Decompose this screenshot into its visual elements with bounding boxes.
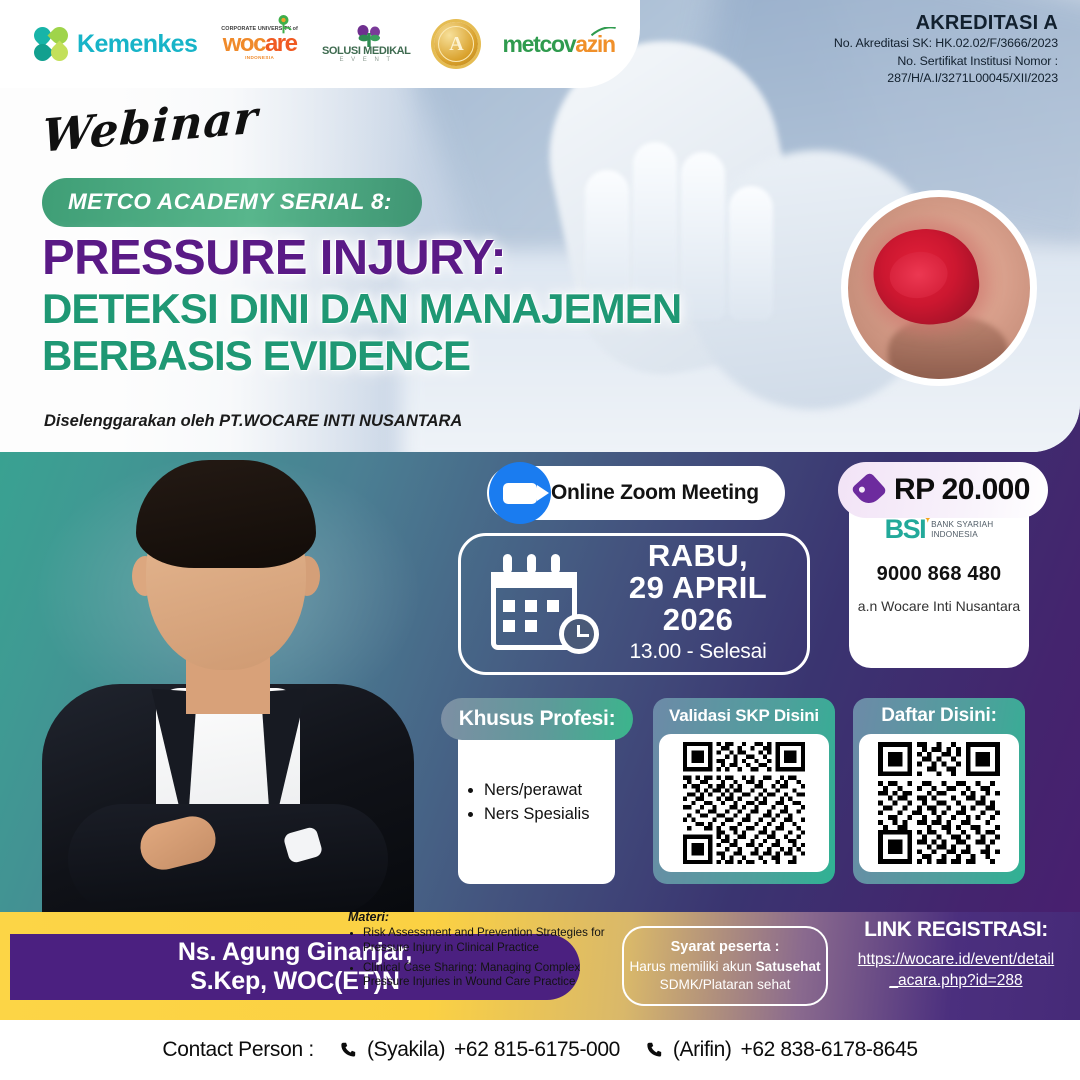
- bsi-logo: BSI✦ BANK SYARIAH INDONESIA: [849, 514, 1029, 545]
- accreditation-line1: No. Akreditasi SK: HK.02.02/F/3666/2023: [834, 35, 1058, 53]
- registration-url-line1: https://wocare.id/event/detail: [858, 951, 1054, 968]
- qr-daftar[interactable]: Daftar Disini:: [853, 698, 1025, 884]
- list-item: Ners Spesialis: [484, 803, 589, 827]
- profession-list: Ners/perawat Ners Spesialis: [484, 779, 589, 827]
- contact-footer: Contact Person : (Syakila) +62 815-6175-…: [0, 1020, 1080, 1080]
- metcovazin-swoosh-icon: [591, 27, 617, 37]
- phone-icon: [340, 1041, 358, 1059]
- video-camera-icon: [489, 462, 551, 524]
- schedule-text: RABU, 29 APRIL 2026 13.00 - Selesai: [601, 540, 807, 667]
- contact-syakila-name: (Syakila): [367, 1038, 445, 1062]
- contact-label: Contact Person :: [162, 1038, 314, 1062]
- logo-solusi-medikal: SOLUSI MEDIKAL E V E N T: [322, 25, 411, 64]
- schedule-card: RABU, 29 APRIL 2026 13.00 - Selesai: [458, 533, 810, 675]
- registration-title: LINK REGISTRASI:: [838, 918, 1074, 942]
- list-item: Ners/perawat: [484, 779, 589, 803]
- accreditation-info: AKREDITASI A No. Akreditasi SK: HK.02.02…: [834, 12, 1058, 88]
- title-line-2: DETEKSI DINI DAN MANAJEMEN: [42, 285, 681, 332]
- bsi-mark-text: BSI: [885, 514, 926, 544]
- wocare-wordmark: wocare: [223, 32, 297, 56]
- serial-badge: METCO ACADEMY SERIAL 8:: [42, 178, 422, 227]
- speaker-crossed-arms: [68, 804, 388, 914]
- accreditation-line2: No. Sertifikat Institusi Nomor :: [834, 53, 1058, 71]
- syarat-line1-b: Satusehat: [756, 959, 821, 974]
- schedule-day: RABU,: [601, 540, 795, 572]
- price-badge: RP 20.000: [838, 462, 1048, 518]
- contact-arifin-phone: +62 838-6178-8645: [741, 1038, 918, 1062]
- syarat-title: Syarat peserta :: [671, 939, 780, 955]
- list-item: Clinical Case Sharing: Managing Complex …: [363, 961, 616, 991]
- account-number: 9000 868 480: [849, 563, 1029, 586]
- metcovazin-part1: met: [502, 31, 539, 57]
- bsi-name-line1: BANK SYARIAH: [931, 520, 993, 530]
- registration-url[interactable]: https://wocare.id/event/detail _acara.ph…: [858, 951, 1054, 989]
- registration-url-line2: _acara.php?id=288: [889, 972, 1022, 989]
- wocare-word-part1: woc: [223, 30, 265, 57]
- serial-badge-label: METCO ACADEMY SERIAL 8:: [68, 189, 392, 214]
- solusi-subtitle: E V E N T: [339, 57, 393, 64]
- logo-kemenkes: Kemenkes: [34, 27, 197, 61]
- pressure-injury-photo: [841, 190, 1037, 386]
- list-item: Risk Assessment and Prevention Strategie…: [363, 926, 616, 956]
- kemenkes-flower-icon: [34, 27, 68, 61]
- webinar-poster: Kemenkes CORPORATE UNIVERSITY of wocare …: [0, 0, 1080, 1080]
- contact-arifin-name: (Arifin): [673, 1038, 732, 1062]
- schedule-time: 13.00 - Selesai: [601, 636, 795, 668]
- accreditation-title: AKREDITASI A: [834, 12, 1058, 35]
- page-title: PRESSURE INJURY: DETEKSI DINI DAN MANAJE…: [42, 232, 681, 379]
- calendar-clock-icon: [483, 554, 601, 654]
- phone-icon: [646, 1041, 664, 1059]
- kemenkes-wordmark: Kemenkes: [77, 30, 197, 59]
- organizer-text: Diselenggarakan oleh PT.WOCARE INTI NUSA…: [44, 412, 462, 431]
- qr-daftar-image: [867, 742, 1011, 864]
- profession-header: Khusus Profesi:: [441, 698, 633, 740]
- accreditation-seal-icon: A: [434, 22, 478, 66]
- materi-list: Risk Assessment and Prevention Strategie…: [363, 926, 616, 990]
- platform-label: Online Zoom Meeting: [551, 481, 759, 505]
- account-owner: a.n Wocare Inti Nusantara: [849, 598, 1029, 616]
- metcovazin-part2: cov: [540, 31, 576, 57]
- materi-section: Materi: Risk Assessment and Prevention S…: [348, 910, 616, 995]
- accreditation-line3: 287/H/A.I/3271L00045/XII/2023: [834, 70, 1058, 88]
- bsi-name-line2: INDONESIA: [931, 530, 993, 540]
- registration-link-section: LINK REGISTRASI: https://wocare.id/event…: [838, 918, 1074, 992]
- contact-arifin[interactable]: (Arifin) +62 838-6178-8645: [646, 1038, 918, 1062]
- solusi-leaf-icon: [354, 25, 378, 43]
- contact-syakila-phone: +62 815-6175-000: [454, 1038, 620, 1062]
- syarat-line1-a: Harus memiliki akun: [629, 959, 755, 974]
- schedule-date: 29 APRIL 2026: [601, 572, 795, 636]
- title-line-3: BERBASIS EVIDENCE: [42, 332, 681, 379]
- bsi-full-name: BANK SYARIAH INDONESIA: [931, 520, 993, 540]
- seal-inner-ring: [438, 26, 474, 62]
- title-line-1: PRESSURE INJURY:: [42, 232, 681, 285]
- profession-header-label: Khusus Profesi:: [459, 707, 616, 731]
- wocare-sprout-icon: [275, 15, 292, 35]
- syarat-peserta-box: Syarat peserta : Harus memiliki akun Sat…: [622, 926, 828, 1006]
- syarat-lines: Harus memiliki akun Satusehat SDMK/Plata…: [629, 958, 820, 993]
- logo-metcovazin: metcovazin: [502, 31, 614, 58]
- speaker-photo: [28, 452, 428, 912]
- camera-body: [503, 483, 537, 504]
- sponsor-logo-bar: Kemenkes CORPORATE UNIVERSITY of wocare …: [0, 0, 640, 88]
- materi-heading: Materi:: [348, 910, 616, 924]
- contact-syakila[interactable]: (Syakila) +62 815-6175-000: [340, 1038, 620, 1062]
- price-amount: RP 20.000: [894, 473, 1030, 507]
- qr-validasi-skp[interactable]: Validasi SKP Disini: [653, 698, 835, 884]
- bsi-wordmark: BSI✦: [885, 514, 926, 545]
- qr-validasi-sheet: [659, 734, 829, 872]
- profession-card: Ners/perawat Ners Spesialis: [458, 722, 615, 884]
- speaker-hair: [136, 460, 316, 568]
- price-tag-icon: [851, 472, 888, 509]
- qr-validasi-caption: Validasi SKP Disini: [653, 698, 835, 734]
- logo-wocare: CORPORATE UNIVERSITY of wocare INDONESIA: [221, 27, 298, 61]
- qr-daftar-caption: Daftar Disini:: [853, 698, 1025, 734]
- qr-validasi-image: [667, 742, 821, 864]
- qr-daftar-sheet: [859, 734, 1019, 872]
- syarat-line2: SDMK/Plataran sehat: [660, 977, 791, 992]
